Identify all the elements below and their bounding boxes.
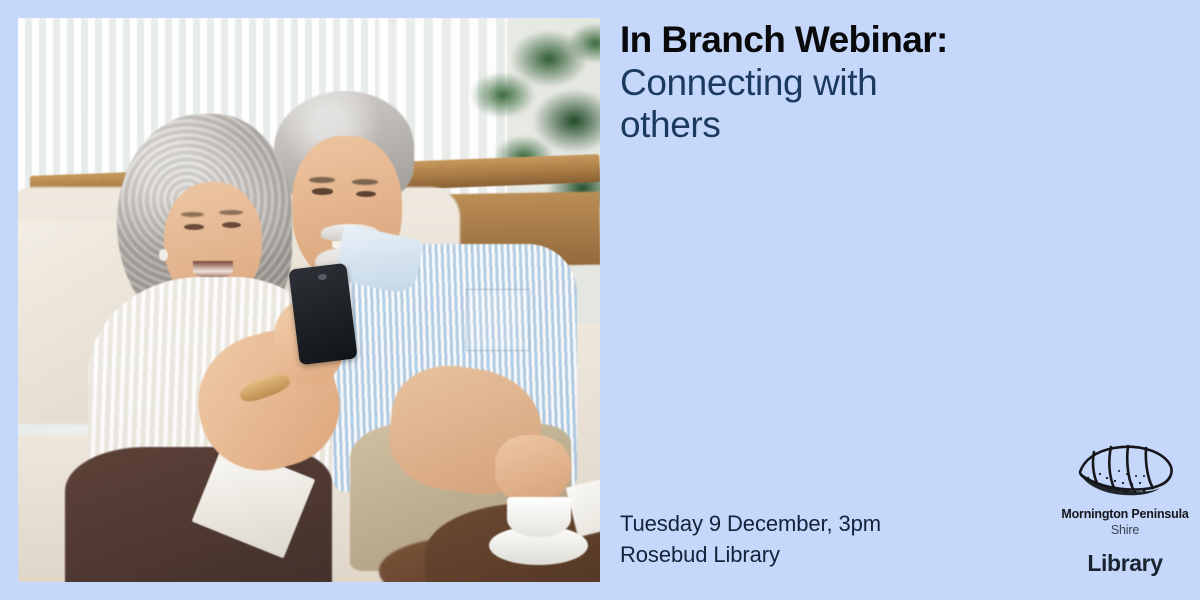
logo-org-light: Shire bbox=[1111, 523, 1139, 537]
photo-man-shirt-pocket bbox=[466, 289, 530, 351]
photo-man-hand bbox=[495, 435, 571, 503]
event-title-line3: others bbox=[620, 104, 1040, 147]
logo-org-name: Mornington Peninsula Shire bbox=[1060, 506, 1190, 538]
library-logo: Mornington Peninsula Shire Library bbox=[1060, 438, 1190, 577]
logo-division: Library bbox=[1060, 550, 1190, 577]
photo-man-eye-left bbox=[312, 188, 333, 194]
scallop-shell-icon bbox=[1070, 438, 1180, 500]
logo-org-bold: Mornington Peninsula bbox=[1061, 507, 1188, 521]
photo-woman-earring bbox=[159, 249, 168, 260]
event-datetime: Tuesday 9 December, 3pm bbox=[620, 508, 881, 539]
content-panel: In Branch Webinar: Connecting with other… bbox=[620, 0, 1200, 600]
event-title-line1: In Branch Webinar: bbox=[620, 18, 1040, 62]
photo-woman-smile bbox=[193, 261, 234, 279]
event-details: Tuesday 9 December, 3pm Rosebud Library bbox=[620, 508, 881, 570]
event-title-line2: Connecting with bbox=[620, 62, 1040, 105]
photo-man-eyebrow-right bbox=[352, 179, 378, 185]
event-photo bbox=[18, 18, 600, 582]
photo-woman-eye-left bbox=[184, 224, 204, 230]
photo-man-eye-right bbox=[356, 191, 377, 197]
photo-teacup bbox=[507, 497, 571, 536]
event-title-block: In Branch Webinar: Connecting with other… bbox=[620, 18, 1040, 147]
event-location: Rosebud Library bbox=[620, 539, 881, 570]
photo-man-eyebrow-left bbox=[309, 177, 335, 183]
